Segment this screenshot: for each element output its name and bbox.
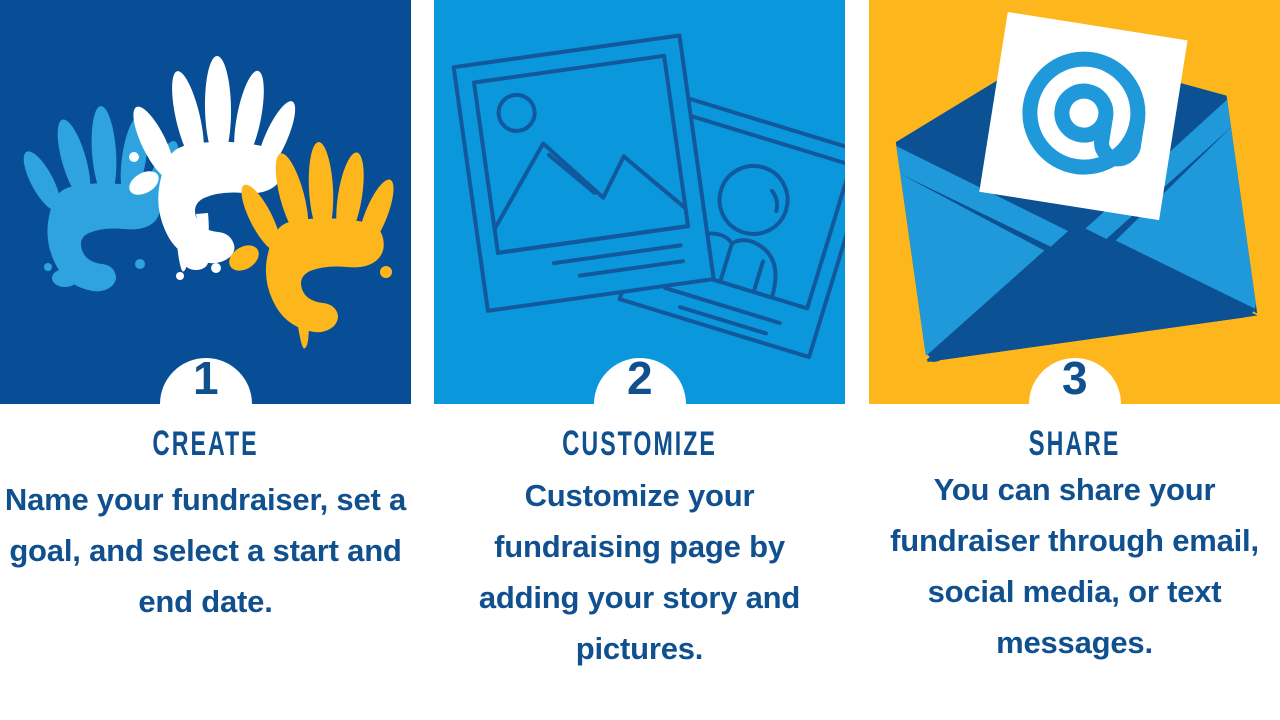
step-3-number: 3 bbox=[869, 352, 1280, 404]
step-2-title: Customize bbox=[475, 410, 804, 467]
step-2-hero-panel bbox=[434, 0, 845, 404]
step-card-1: 1 Create Name your fundraiser, set a goa… bbox=[0, 0, 411, 720]
how-it-works-infographic: 1 Create Name your fundraiser, set a goa… bbox=[0, 0, 1280, 720]
handprints-icon bbox=[0, 0, 411, 404]
step-1-description: Name your fundraiser, set a goal, and se… bbox=[3, 474, 408, 627]
step-1-caption: 1 Create Name your fundraiser, set a goa… bbox=[0, 352, 411, 627]
step-3-description: You can share your fundraiser through em… bbox=[875, 464, 1275, 668]
email-envelope-icon bbox=[869, 0, 1280, 404]
step-1-hero-panel bbox=[0, 0, 411, 404]
step-card-2: 2 Customize Customize your fundraising p… bbox=[434, 0, 845, 720]
step-2-number: 2 bbox=[434, 352, 845, 404]
step-2-description: Customize your fundraising page by addin… bbox=[456, 470, 824, 674]
step-card-3: 3 Share You can share your fundraiser th… bbox=[869, 0, 1280, 720]
step-3-title: Share bbox=[910, 410, 1239, 467]
step-3-caption: 3 Share You can share your fundraiser th… bbox=[869, 352, 1280, 668]
step-1-number: 1 bbox=[0, 352, 411, 404]
step-2-caption: 2 Customize Customize your fundraising p… bbox=[434, 352, 845, 674]
step-1-title: Create bbox=[41, 410, 370, 467]
step-3-hero-panel bbox=[869, 0, 1280, 404]
photos-icon bbox=[434, 0, 845, 404]
